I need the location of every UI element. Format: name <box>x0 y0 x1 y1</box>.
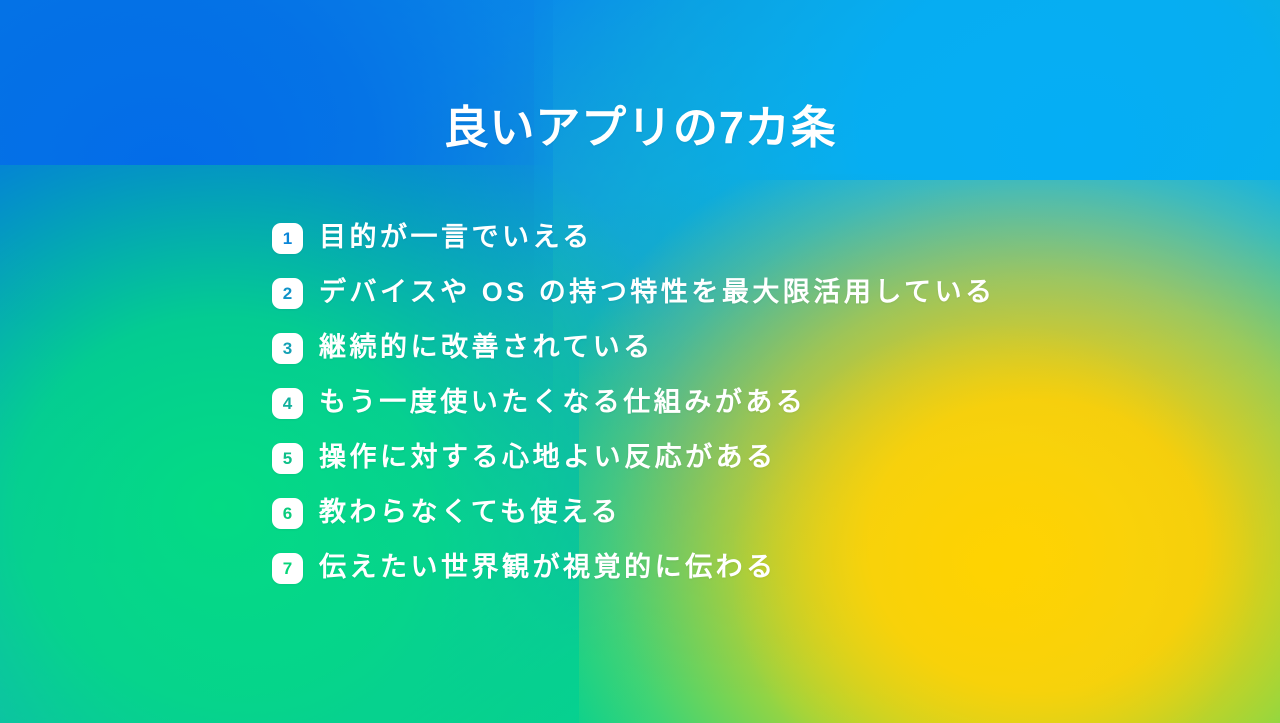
list-item-label: もう一度使いたくなる仕組みがある <box>319 386 806 420</box>
list-item-number-badge: 6 <box>272 498 303 529</box>
list-item-label: 操作に対する心地よい反応がある <box>319 441 777 475</box>
list-item: 2デバイスや OS の持つ特性を最大限活用している <box>272 274 996 312</box>
list-item-number-badge: 1 <box>272 223 303 254</box>
list-item-label: 継続的に改善されている <box>319 331 654 365</box>
principles-list: 1目的が一言でいえる2デバイスや OS の持つ特性を最大限活用している3継続的に… <box>272 219 996 587</box>
list-item-label: 教わらなくても使える <box>319 496 621 530</box>
list-item: 4もう一度使いたくなる仕組みがある <box>272 384 996 422</box>
list-item: 1目的が一言でいえる <box>272 219 996 257</box>
list-item: 7伝えたい世界観が視覚的に伝わる <box>272 549 996 587</box>
list-item: 5操作に対する心地よい反応がある <box>272 439 996 477</box>
list-item-label: デバイスや OS の持つ特性を最大限活用している <box>319 276 996 310</box>
slide-root: 良いアプリの7カ条 1目的が一言でいえる2デバイスや OS の持つ特性を最大限活… <box>0 0 1280 723</box>
list-item: 3継続的に改善されている <box>272 329 996 367</box>
list-item: 6教わらなくても使える <box>272 494 996 532</box>
list-item-number-badge: 4 <box>272 388 303 419</box>
slide-content: 良いアプリの7カ条 1目的が一言でいえる2デバイスや OS の持つ特性を最大限活… <box>0 0 1280 723</box>
list-item-number-badge: 7 <box>272 553 303 584</box>
list-item-number-badge: 5 <box>272 443 303 474</box>
slide-title: 良いアプリの7カ条 <box>0 101 1280 155</box>
list-item-label: 伝えたい世界観が視覚的に伝わる <box>319 551 777 585</box>
list-item-number-badge: 3 <box>272 333 303 364</box>
list-item-label: 目的が一言でいえる <box>319 221 593 255</box>
list-item-number-badge: 2 <box>272 278 303 309</box>
